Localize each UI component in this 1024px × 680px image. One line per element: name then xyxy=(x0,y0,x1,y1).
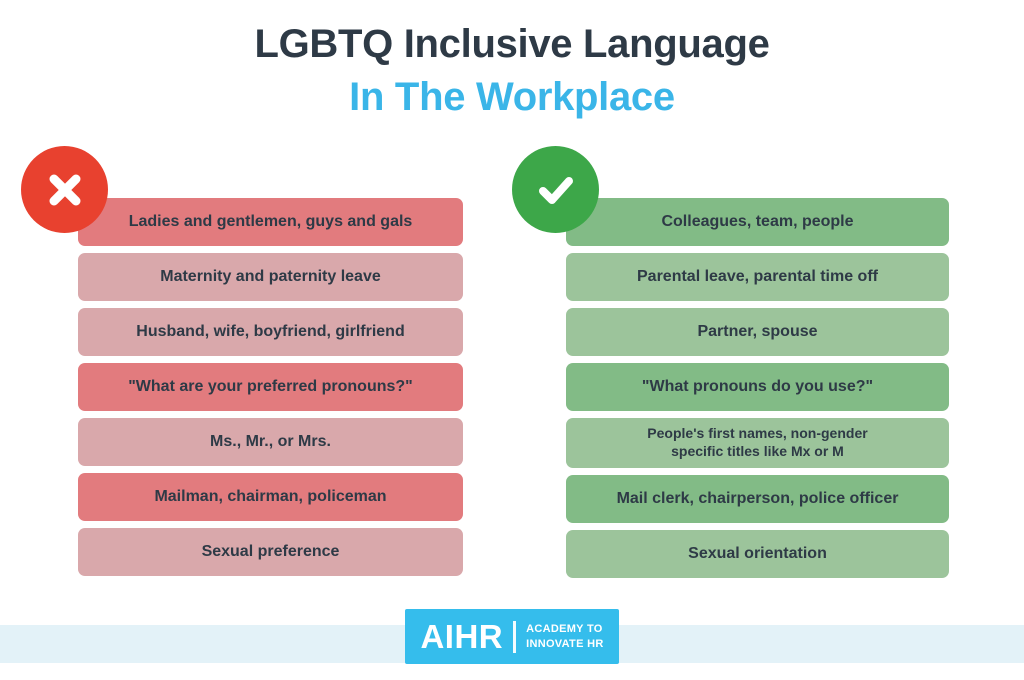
logo-wordmark: AIHR xyxy=(420,620,503,653)
column-use-instead: Colleagues, team, people Parental leave,… xyxy=(566,198,949,578)
logo-tagline: ACADEMY TO INNOVATE HR xyxy=(526,622,603,650)
page-title: LGBTQ Inclusive Language In The Workplac… xyxy=(0,20,1024,122)
brand-logo: AIHR ACADEMY TO INNOVATE HR xyxy=(405,609,619,664)
list-item-label: Sexual preference xyxy=(202,543,340,562)
list-item-label: People's first names, non-gender specifi… xyxy=(647,425,867,461)
list-item: Sexual orientation xyxy=(566,530,949,578)
list-item: Mailman, chairman, policeman xyxy=(78,473,463,521)
list-item-label: Husband, wife, boyfriend, girlfriend xyxy=(136,323,404,342)
list-item-label: Mail clerk, chairperson, police officer xyxy=(617,490,899,509)
list-item: Husband, wife, boyfriend, girlfriend xyxy=(78,308,463,356)
list-item-label: Parental leave, parental time off xyxy=(637,268,878,287)
list-item: Ladies and gentlemen, guys and gals xyxy=(78,198,463,246)
list-item-label: Sexual orientation xyxy=(688,545,827,564)
cross-icon xyxy=(21,146,108,233)
list-item-label: Ladies and gentlemen, guys and gals xyxy=(129,213,413,232)
list-item-label: "What pronouns do you use?" xyxy=(642,378,873,397)
list-item: Parental leave, parental time off xyxy=(566,253,949,301)
title-line-primary: LGBTQ Inclusive Language xyxy=(0,20,1024,69)
list-item: "What pronouns do you use?" xyxy=(566,363,949,411)
list-item: Mail clerk, chairperson, police officer xyxy=(566,475,949,523)
list-item-label: Mailman, chairman, policeman xyxy=(154,488,386,507)
list-item-label: Maternity and paternity leave xyxy=(160,268,381,287)
list-item: People's first names, non-gender specifi… xyxy=(566,418,949,468)
list-item-label: Ms., Mr., or Mrs. xyxy=(210,433,331,452)
check-icon xyxy=(512,146,599,233)
list-item: Ms., Mr., or Mrs. xyxy=(78,418,463,466)
infographic-canvas: LGBTQ Inclusive Language In The Workplac… xyxy=(0,0,1024,680)
list-item: Colleagues, team, people xyxy=(566,198,949,246)
list-item-label: "What are your preferred pronouns?" xyxy=(128,378,413,397)
list-item-label: Partner, spouse xyxy=(697,323,817,342)
list-item: Partner, spouse xyxy=(566,308,949,356)
column-avoid: Ladies and gentlemen, guys and gals Mate… xyxy=(78,198,463,576)
list-item: Maternity and paternity leave xyxy=(78,253,463,301)
list-item-label: Colleagues, team, people xyxy=(661,213,853,232)
logo-divider xyxy=(513,621,516,653)
list-item: Sexual preference xyxy=(78,528,463,576)
list-item: "What are your preferred pronouns?" xyxy=(78,363,463,411)
title-line-secondary: In The Workplace xyxy=(0,73,1024,122)
